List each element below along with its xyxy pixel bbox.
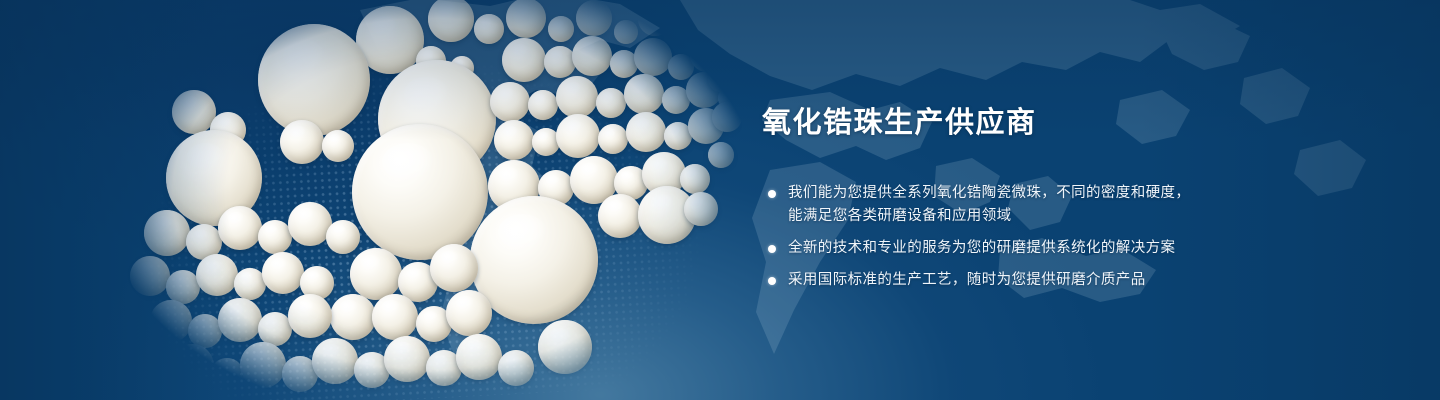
bullet-text: 能满足您各类研磨设备和应用领域 <box>788 205 1232 228</box>
list-item: 全新的技术和专业的服务为您的研磨提供系统化的解决方案 <box>762 237 1232 260</box>
bullet-dot-icon <box>768 277 776 285</box>
bullet-text: 采用国际标准的生产工艺，随时为您提供研磨介质产品 <box>788 269 1232 292</box>
bullet-dot-icon <box>768 190 776 198</box>
hero-banner: 氧化锆珠生产供应商 我们能为您提供全系列氧化锆陶瓷微珠，不同的密度和硬度， 能满… <box>0 0 1440 400</box>
list-item: 我们能为您提供全系列氧化锆陶瓷微珠，不同的密度和硬度， 能满足您各类研磨设备和应… <box>762 182 1232 228</box>
bullet-dot-icon <box>768 245 776 253</box>
feature-list: 我们能为您提供全系列氧化锆陶瓷微珠，不同的密度和硬度， 能满足您各类研磨设备和应… <box>762 182 1232 292</box>
bullet-text: 我们能为您提供全系列氧化锆陶瓷微珠，不同的密度和硬度， <box>788 182 1232 205</box>
page-title: 氧化锆珠生产供应商 <box>762 108 1232 140</box>
list-item: 采用国际标准的生产工艺，随时为您提供研磨介质产品 <box>762 269 1232 292</box>
bullet-text: 全新的技术和专业的服务为您的研磨提供系统化的解决方案 <box>788 237 1232 260</box>
banner-copy: 氧化锆珠生产供应商 我们能为您提供全系列氧化锆陶瓷微珠，不同的密度和硬度， 能满… <box>762 108 1232 292</box>
